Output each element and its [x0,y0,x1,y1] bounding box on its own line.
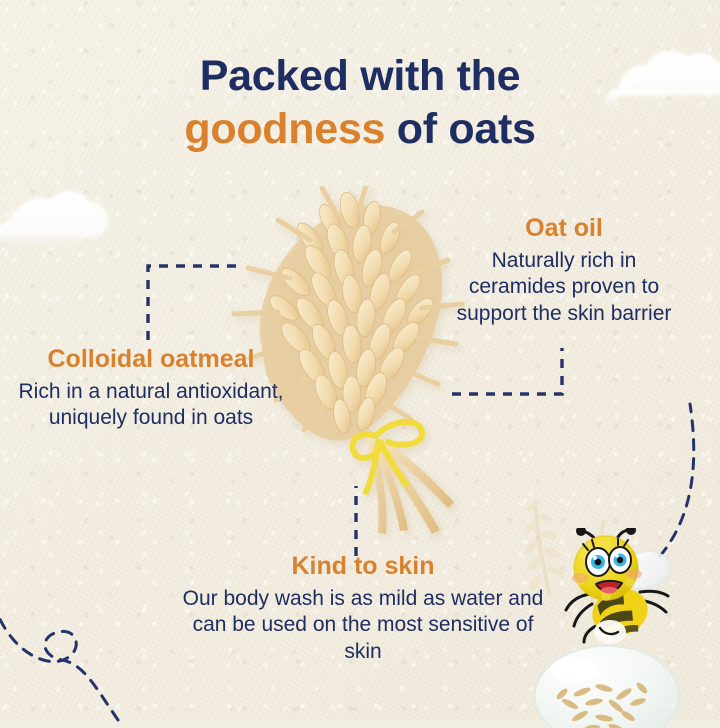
callout-kind-to-skin-body: Our body wash is as mild as water and ca… [182,586,544,667]
page-title: Packed with the goodness of oats [0,50,720,157]
callout-oat-oil: Oat oil Naturally rich in ceramides prov… [452,214,676,328]
callout-colloidal-oatmeal: Colloidal oatmeal Rich in a natural anti… [10,345,292,432]
infographic-canvas: Packed with the goodness of oats Oat oil… [0,0,720,720]
title-line-2-rest: of oats [385,105,536,153]
dashed-loop-bottom-left [0,598,118,720]
title-accent-word: goodness [184,105,385,153]
callout-oat-oil-body: Naturally rich in ceramides proven to su… [452,248,676,329]
bee-mascot-illustration [548,528,698,658]
callout-oat-oil-heading: Oat oil [452,214,676,244]
connector-colloidal [148,266,238,340]
callout-colloidal-oatmeal-body: Rich in a natural antioxidant, uniquely … [10,379,292,433]
callout-kind-to-skin-heading: Kind to skin [182,552,544,582]
callout-kind-to-skin: Kind to skin Our body wash is as mild as… [182,552,544,666]
title-line-2: goodness of oats [0,103,720,156]
title-line-1: Packed with the [0,50,720,103]
callout-colloidal-oatmeal-heading: Colloidal oatmeal [10,345,292,375]
connector-oat-oil [452,348,562,394]
